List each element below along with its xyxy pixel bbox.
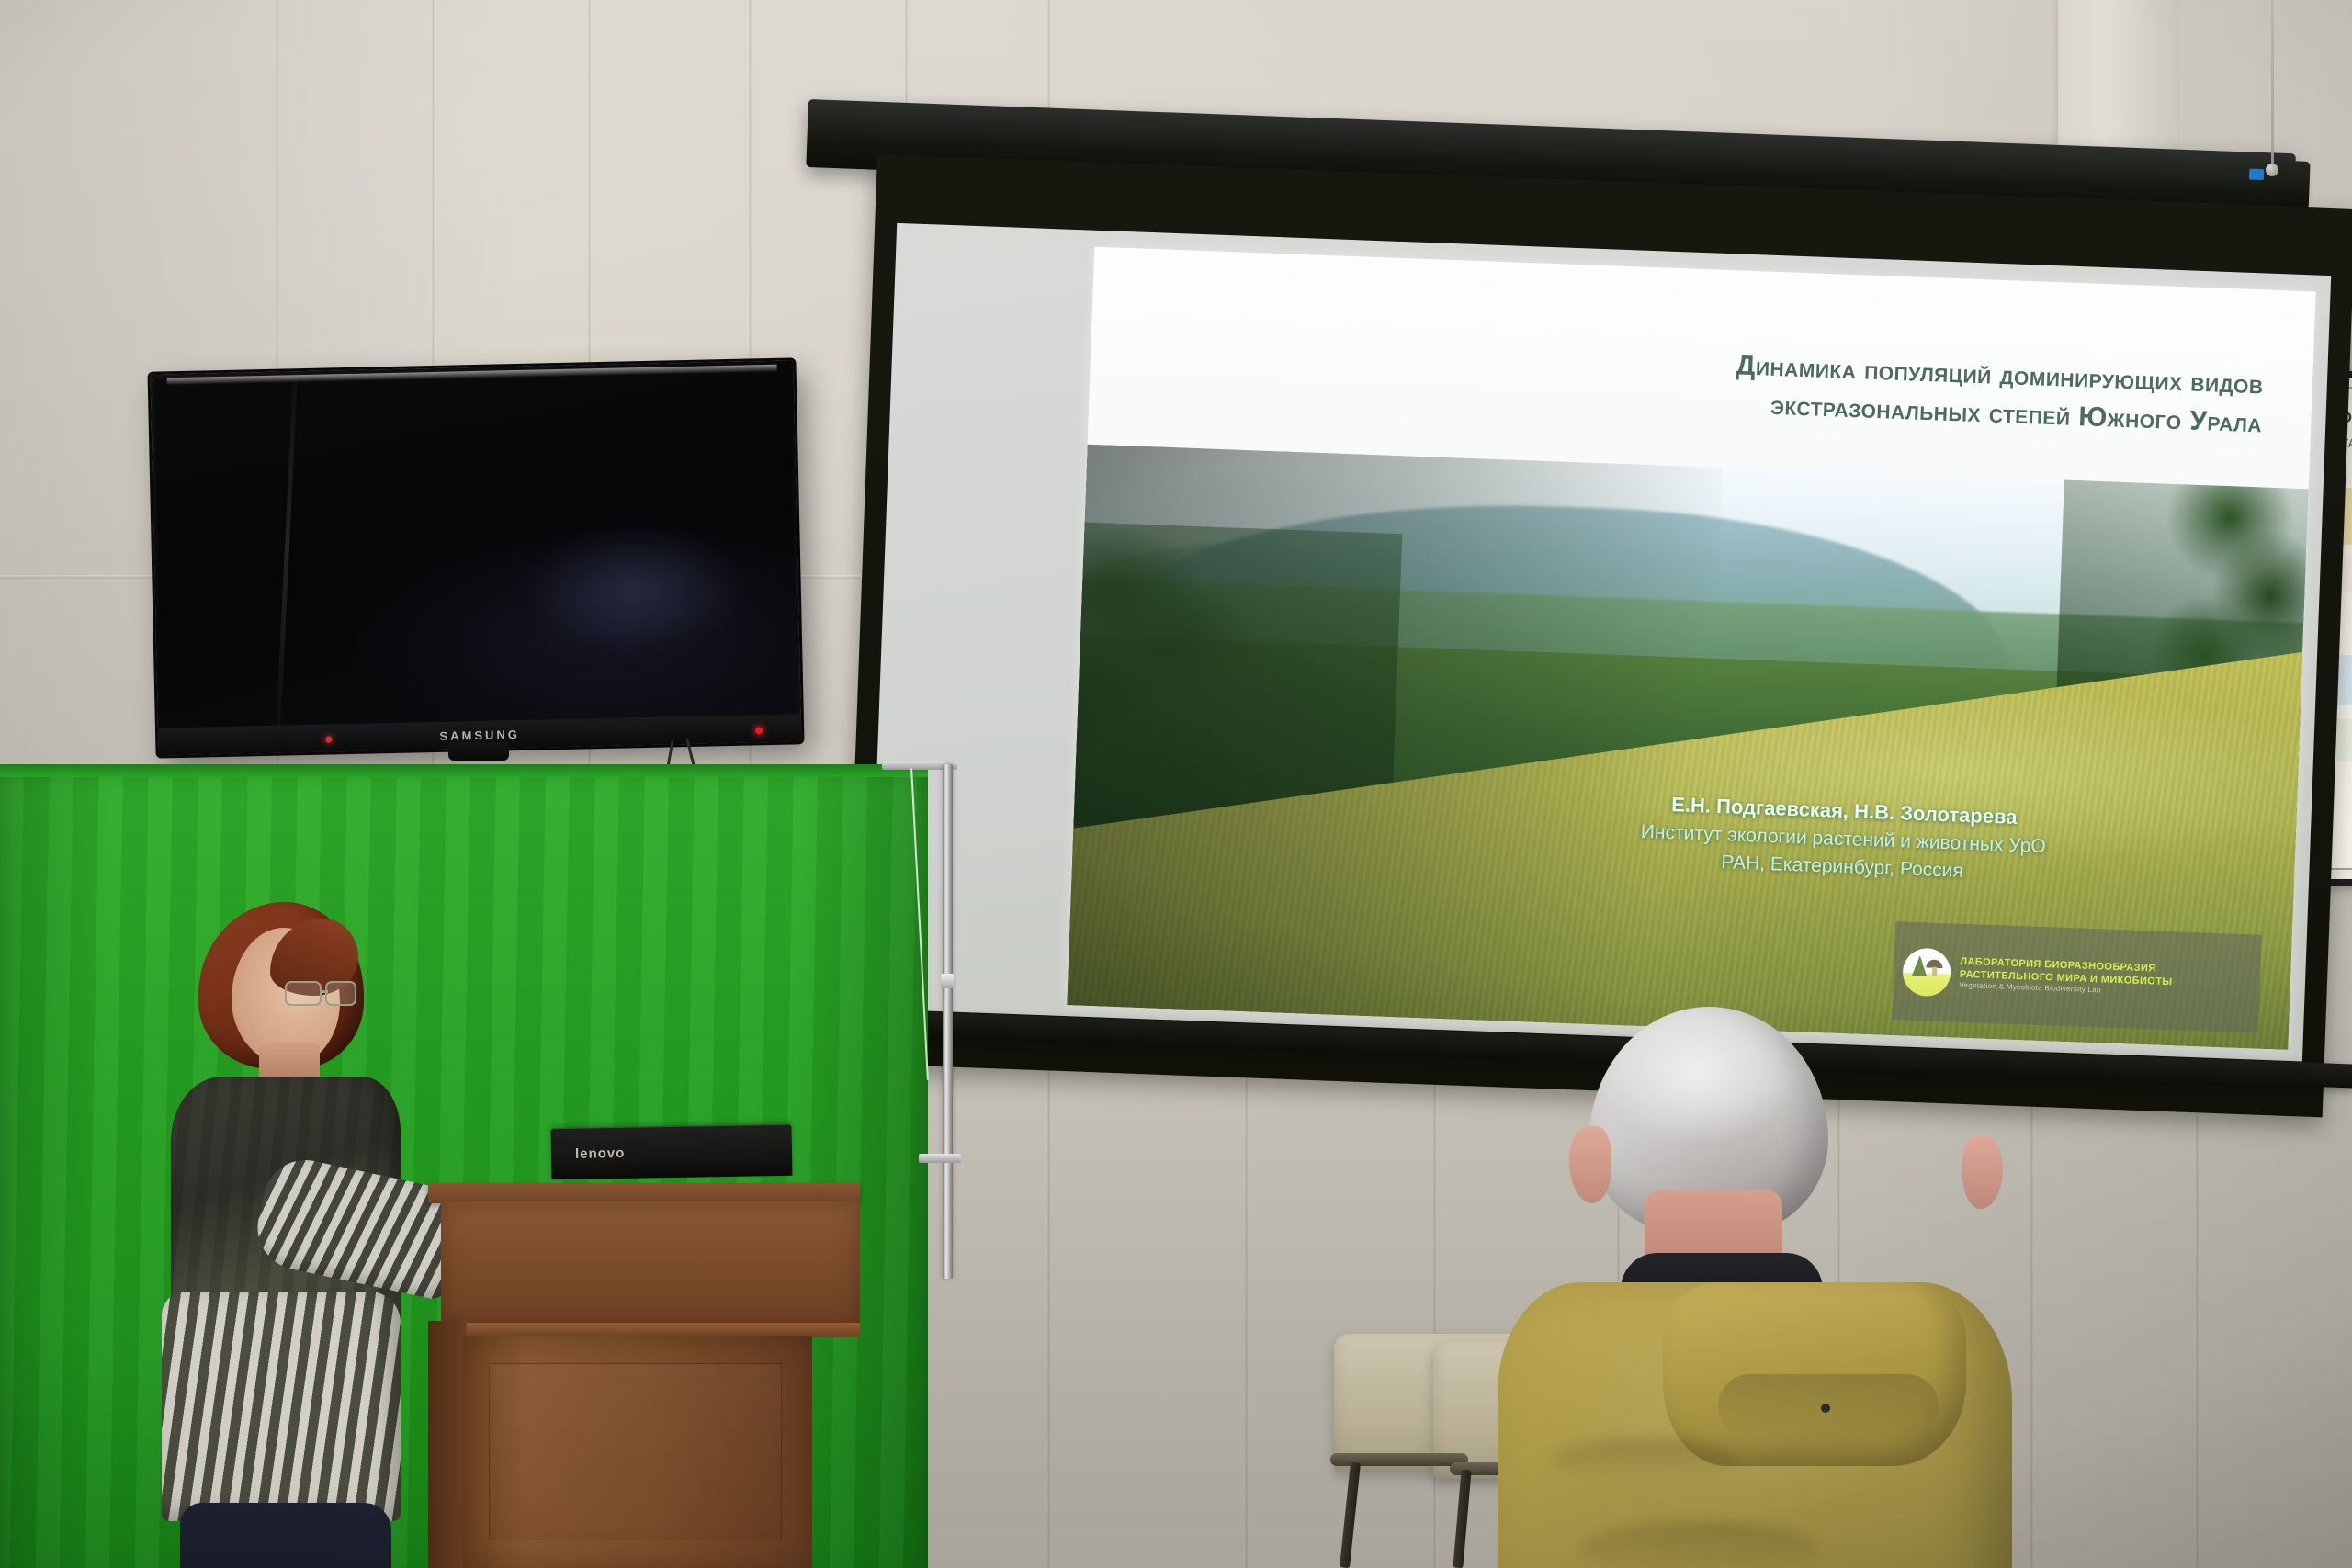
- presenter-lower-body: [180, 1503, 391, 1568]
- audience-member-ear: [1962, 1135, 2003, 1209]
- wall-mounted-tv[interactable]: SAMSUNG: [151, 360, 802, 755]
- conifer-icon: [1912, 955, 1928, 976]
- projected-slide: Динамика популяций доминирующих видов эк…: [1067, 247, 2315, 1050]
- podium-top-surface: [428, 1183, 860, 1203]
- presentation-room-photo: ГЕОЛОГИЧЕСКАЯ КАРТА SAMSUNG: [0, 0, 2352, 1568]
- curtain-top-hem: [0, 764, 928, 777]
- podium-front-panel: [489, 1363, 783, 1540]
- audience-member-ear: [1569, 1126, 1611, 1203]
- tv-brand-label: SAMSUNG: [439, 728, 520, 743]
- lab-logo-emblem-icon: [1902, 947, 1951, 997]
- laptop[interactable]: lenovo: [551, 1124, 793, 1180]
- jacket-snap-button: [1821, 1404, 1830, 1413]
- backdrop-stand-pole: [943, 764, 953, 1279]
- laptop-brand-label: lenovo: [575, 1145, 626, 1161]
- projector-screen-body: Динамика популяций доминирующих видов эк…: [844, 154, 2352, 1117]
- screen-housing-endcap: [2278, 161, 2311, 209]
- podium-upper-front: [441, 1201, 860, 1330]
- backdrop-stand-clamp: [941, 974, 954, 988]
- screen-hanging-cord: [2271, 0, 2274, 165]
- tv-stand: [448, 742, 509, 761]
- tv-indicator-led: [325, 736, 332, 742]
- mushroom-icon: [1926, 959, 1942, 968]
- screen-cord-knob: [2266, 164, 2278, 176]
- presenter-striped-torso: [162, 1292, 401, 1521]
- projection-surface: Динамика популяций доминирующих видов эк…: [868, 223, 2331, 1062]
- podium-left-side: [428, 1321, 467, 1568]
- backdrop-stand-lower-arm: [919, 1154, 961, 1163]
- tv-screen: [154, 365, 797, 728]
- speaker-podium: [428, 1183, 860, 1568]
- presenter-glasses-icon: [285, 981, 360, 1009]
- screen-housing-sticker: [2249, 169, 2264, 181]
- audience-member: [1525, 1007, 2040, 1568]
